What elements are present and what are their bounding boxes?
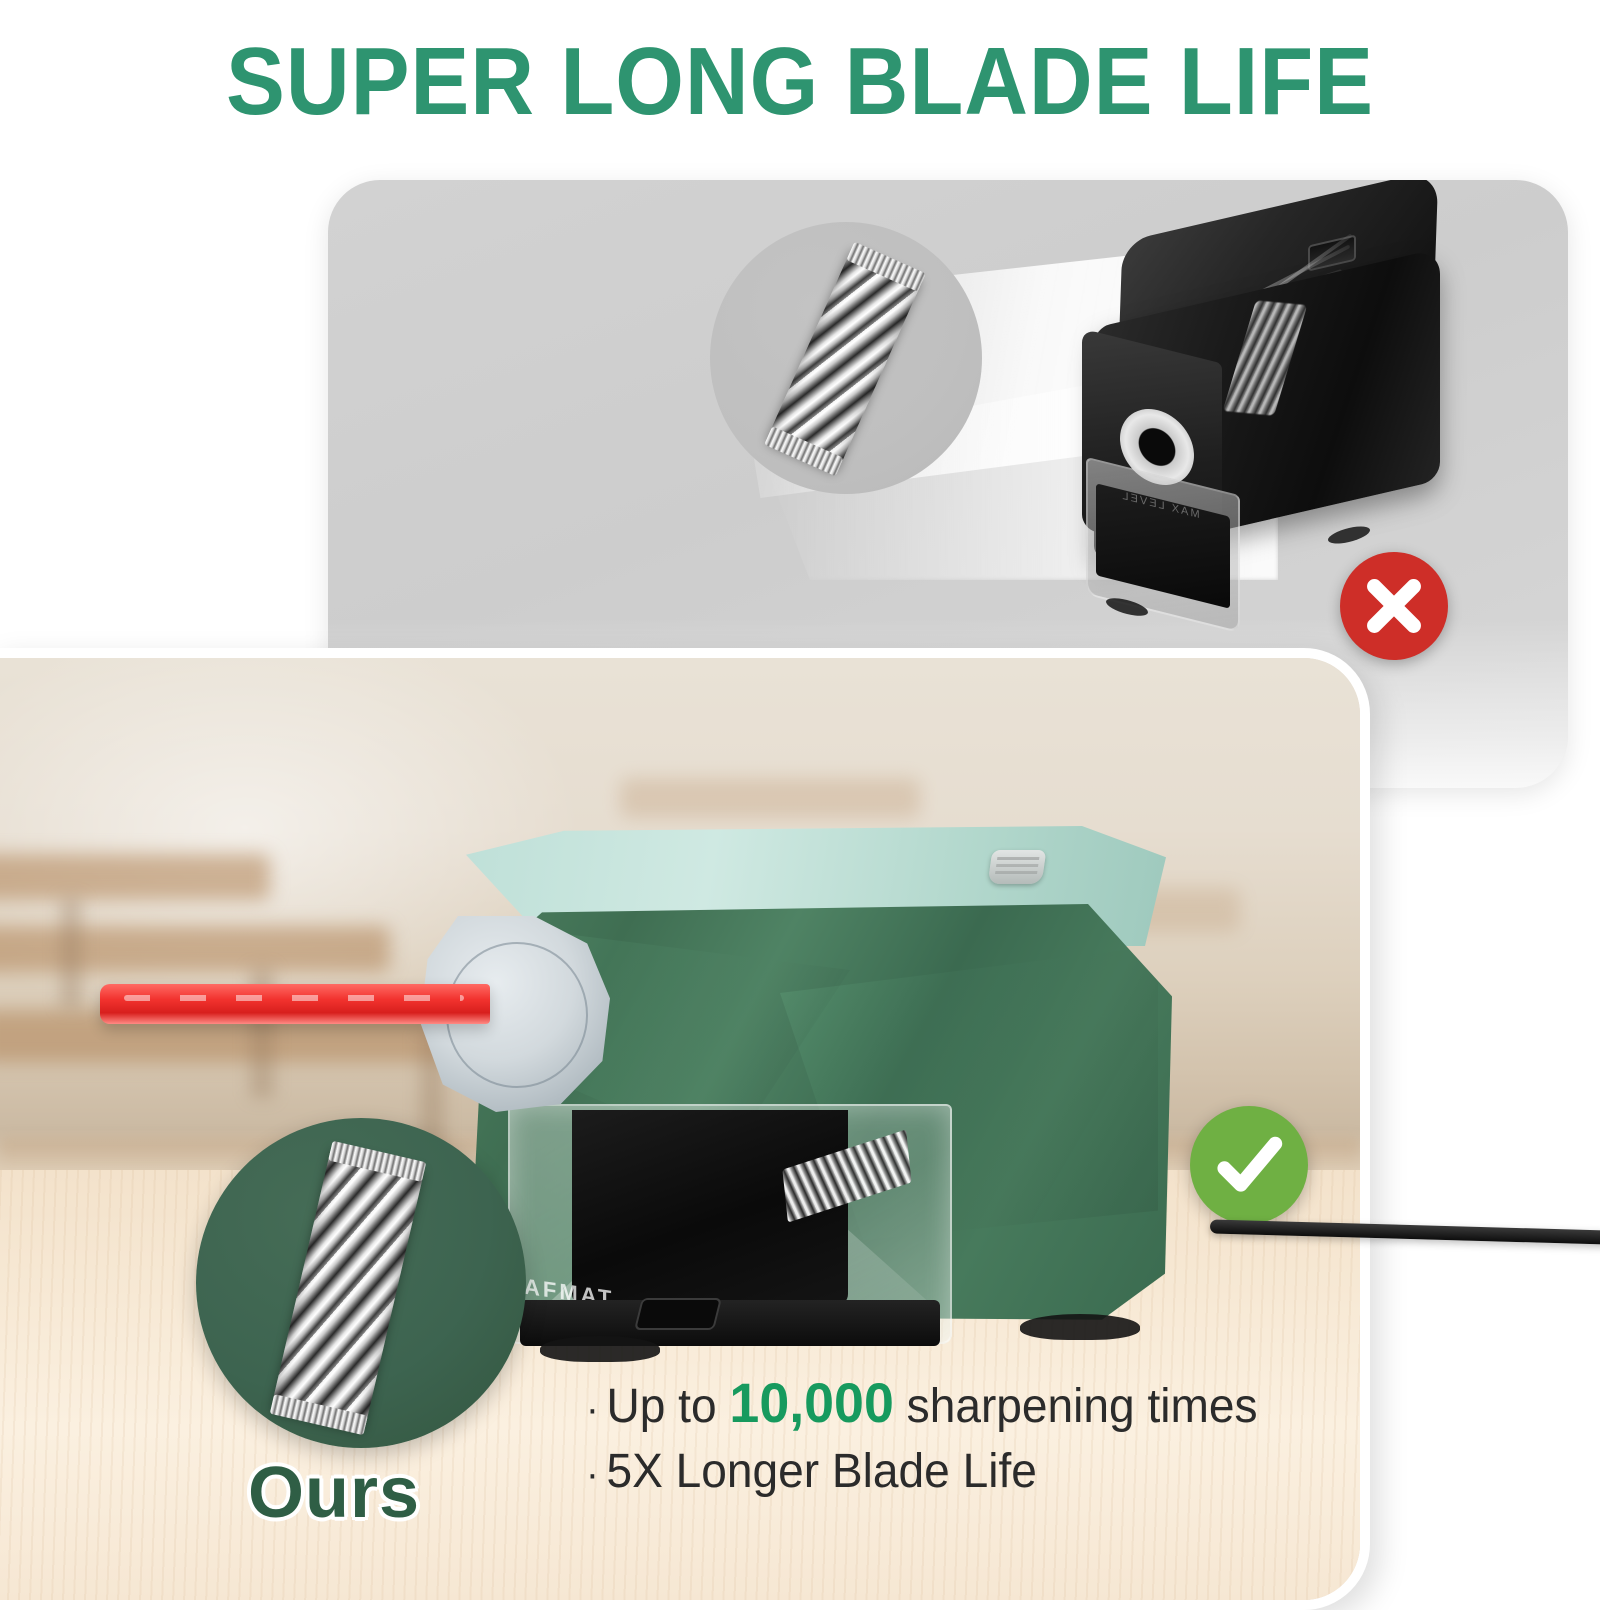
afmat-sharpener: AFMAT bbox=[420, 808, 1250, 1408]
close-icon bbox=[1359, 571, 1429, 641]
blade-cap-top bbox=[846, 242, 925, 292]
sharpener-foot-right bbox=[1020, 1314, 1140, 1340]
marketing-image: SUPER LONG BLADE LIFE MAX LEVE bbox=[0, 0, 1600, 1600]
blade-cap-bottom-ours bbox=[270, 1394, 368, 1435]
bullet-2-pre: 5X Longer Blade Life bbox=[606, 1445, 1036, 1498]
blade-cap-bottom bbox=[764, 426, 843, 476]
bullet-item-1: ·Up to 10,000 sharpening times bbox=[586, 1366, 1316, 1440]
blurred-desk-1 bbox=[0, 854, 270, 900]
feature-bullet-list: ·Up to 10,000 sharpening times ·5X Longe… bbox=[586, 1366, 1346, 1503]
sharpener-foot-left bbox=[540, 1336, 660, 1362]
others-blade-callout-circle bbox=[710, 222, 982, 494]
status-badge-cross bbox=[1340, 552, 1448, 660]
helical-blade-icon-ours bbox=[271, 1145, 426, 1432]
page-title: SUPER LONG BLADE LIFE bbox=[64, 34, 1536, 130]
sharpener-shaving-bin: AFMAT bbox=[508, 1104, 952, 1344]
bullet-dot-2: · bbox=[586, 1452, 599, 1496]
helical-blade-icon bbox=[766, 245, 924, 472]
ours-blade-callout-circle bbox=[196, 1118, 526, 1448]
blurred-desk-2 bbox=[0, 926, 390, 972]
blade-cap-top-ours bbox=[328, 1141, 426, 1182]
bullet-1-highlight: 10,000 bbox=[729, 1371, 893, 1434]
bullet-1-post: sharpening times bbox=[894, 1380, 1258, 1433]
bullet-dot-1: · bbox=[586, 1387, 599, 1431]
bullet-item-2: ·5X Longer Blade Life bbox=[586, 1440, 1316, 1503]
check-icon bbox=[1208, 1124, 1290, 1206]
blurred-desk-leg-1 bbox=[60, 898, 82, 1008]
status-badge-check bbox=[1190, 1106, 1308, 1224]
internal-helical-blade bbox=[782, 1129, 911, 1222]
bullet-1-pre: Up to bbox=[606, 1380, 729, 1433]
competitor-foot-right bbox=[1328, 523, 1370, 547]
red-pencil bbox=[100, 984, 490, 1024]
ours-label: Ours bbox=[248, 1452, 420, 1534]
bin-release-slot bbox=[634, 1298, 722, 1330]
sharpener-power-switch bbox=[988, 850, 1047, 884]
bin-interior bbox=[572, 1110, 848, 1306]
